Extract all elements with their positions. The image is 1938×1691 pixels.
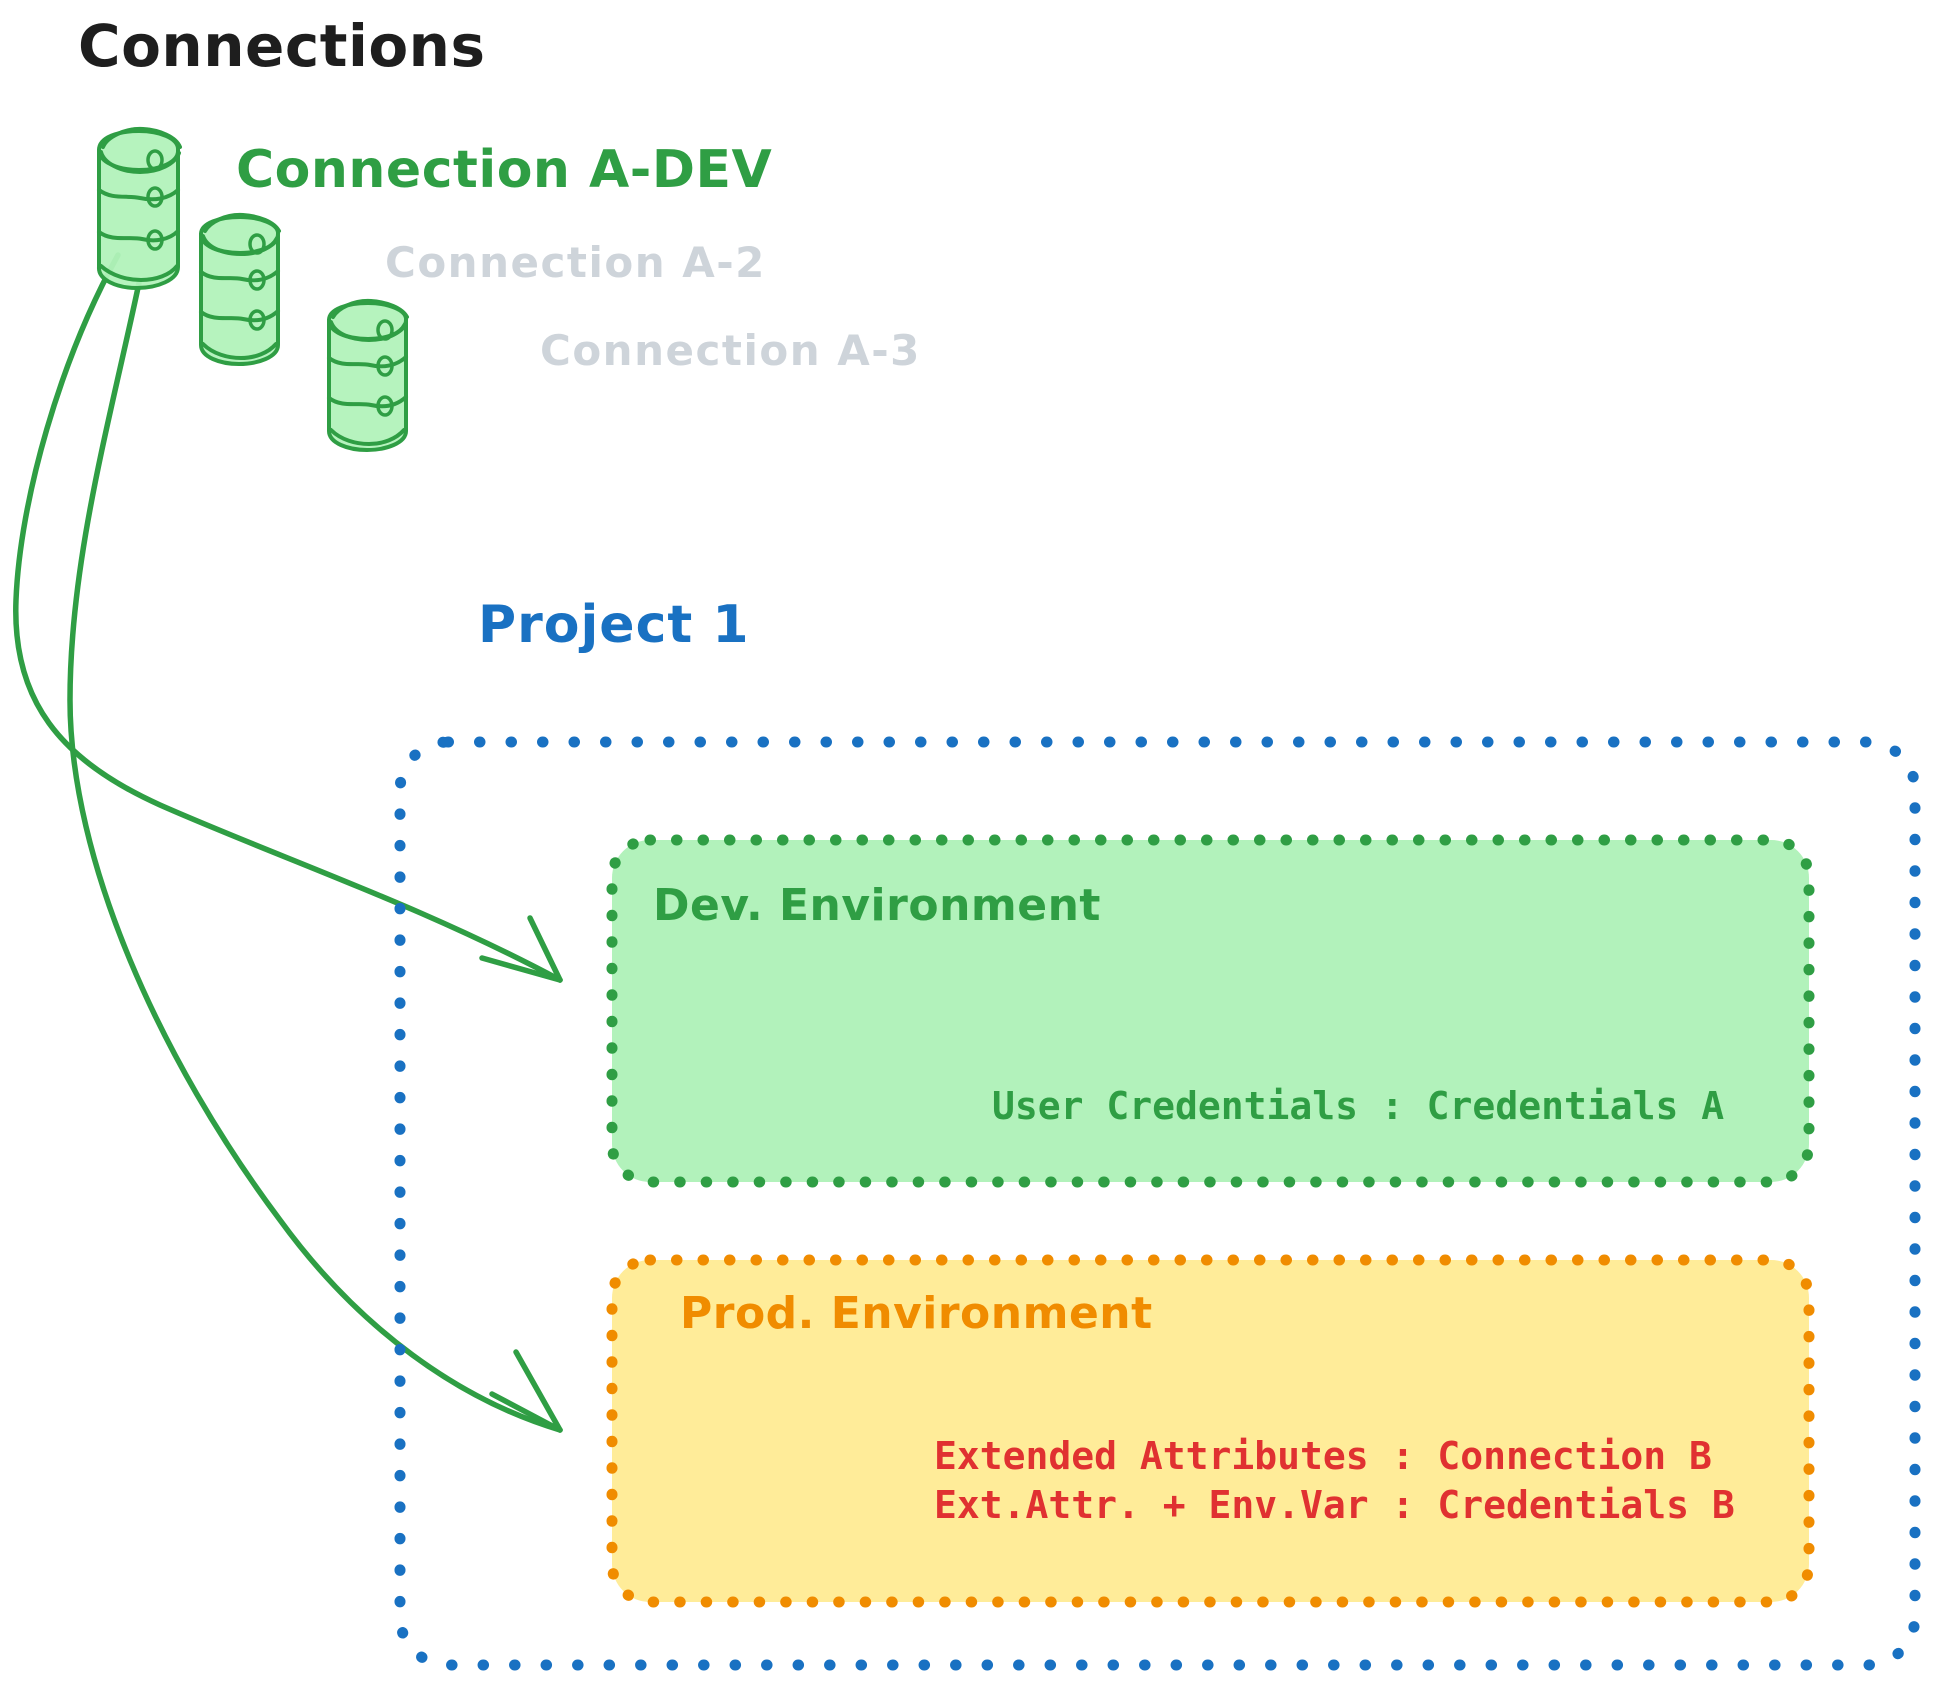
- connection-label-a-3[interactable]: Connection A-3: [540, 326, 921, 376]
- database-cylinder-icon-2[interactable]: [201, 215, 279, 364]
- prod-attribute-ext-attr-env-var: Ext.Attr. + Env.Var : Credentials B: [934, 1483, 1735, 1527]
- diagram-canvas: Connections Connection A-DEV Connection …: [0, 0, 1938, 1691]
- database-cylinder-icon-1[interactable]: [99, 129, 180, 288]
- connection-label-a-2[interactable]: Connection A-2: [385, 238, 766, 288]
- project-title: Project 1: [478, 595, 750, 656]
- dev-environment-attribute-user-credentials: User Credentials : Credentials A: [992, 1082, 1724, 1131]
- prod-attribute-extended-attributes: Extended Attributes : Connection B: [934, 1434, 1712, 1478]
- database-cylinder-icon-3[interactable]: [329, 301, 407, 450]
- connection-arrow-to-prod: [70, 283, 560, 1430]
- dev-environment-title: Dev. Environment: [653, 880, 1101, 932]
- prod-environment-title: Prod. Environment: [680, 1288, 1153, 1340]
- prod-environment-attributes: Extended Attributes : Connection BExt.At…: [934, 1432, 1735, 1529]
- page-title: Connections: [78, 12, 485, 80]
- connection-label-a-dev[interactable]: Connection A-DEV: [236, 140, 772, 201]
